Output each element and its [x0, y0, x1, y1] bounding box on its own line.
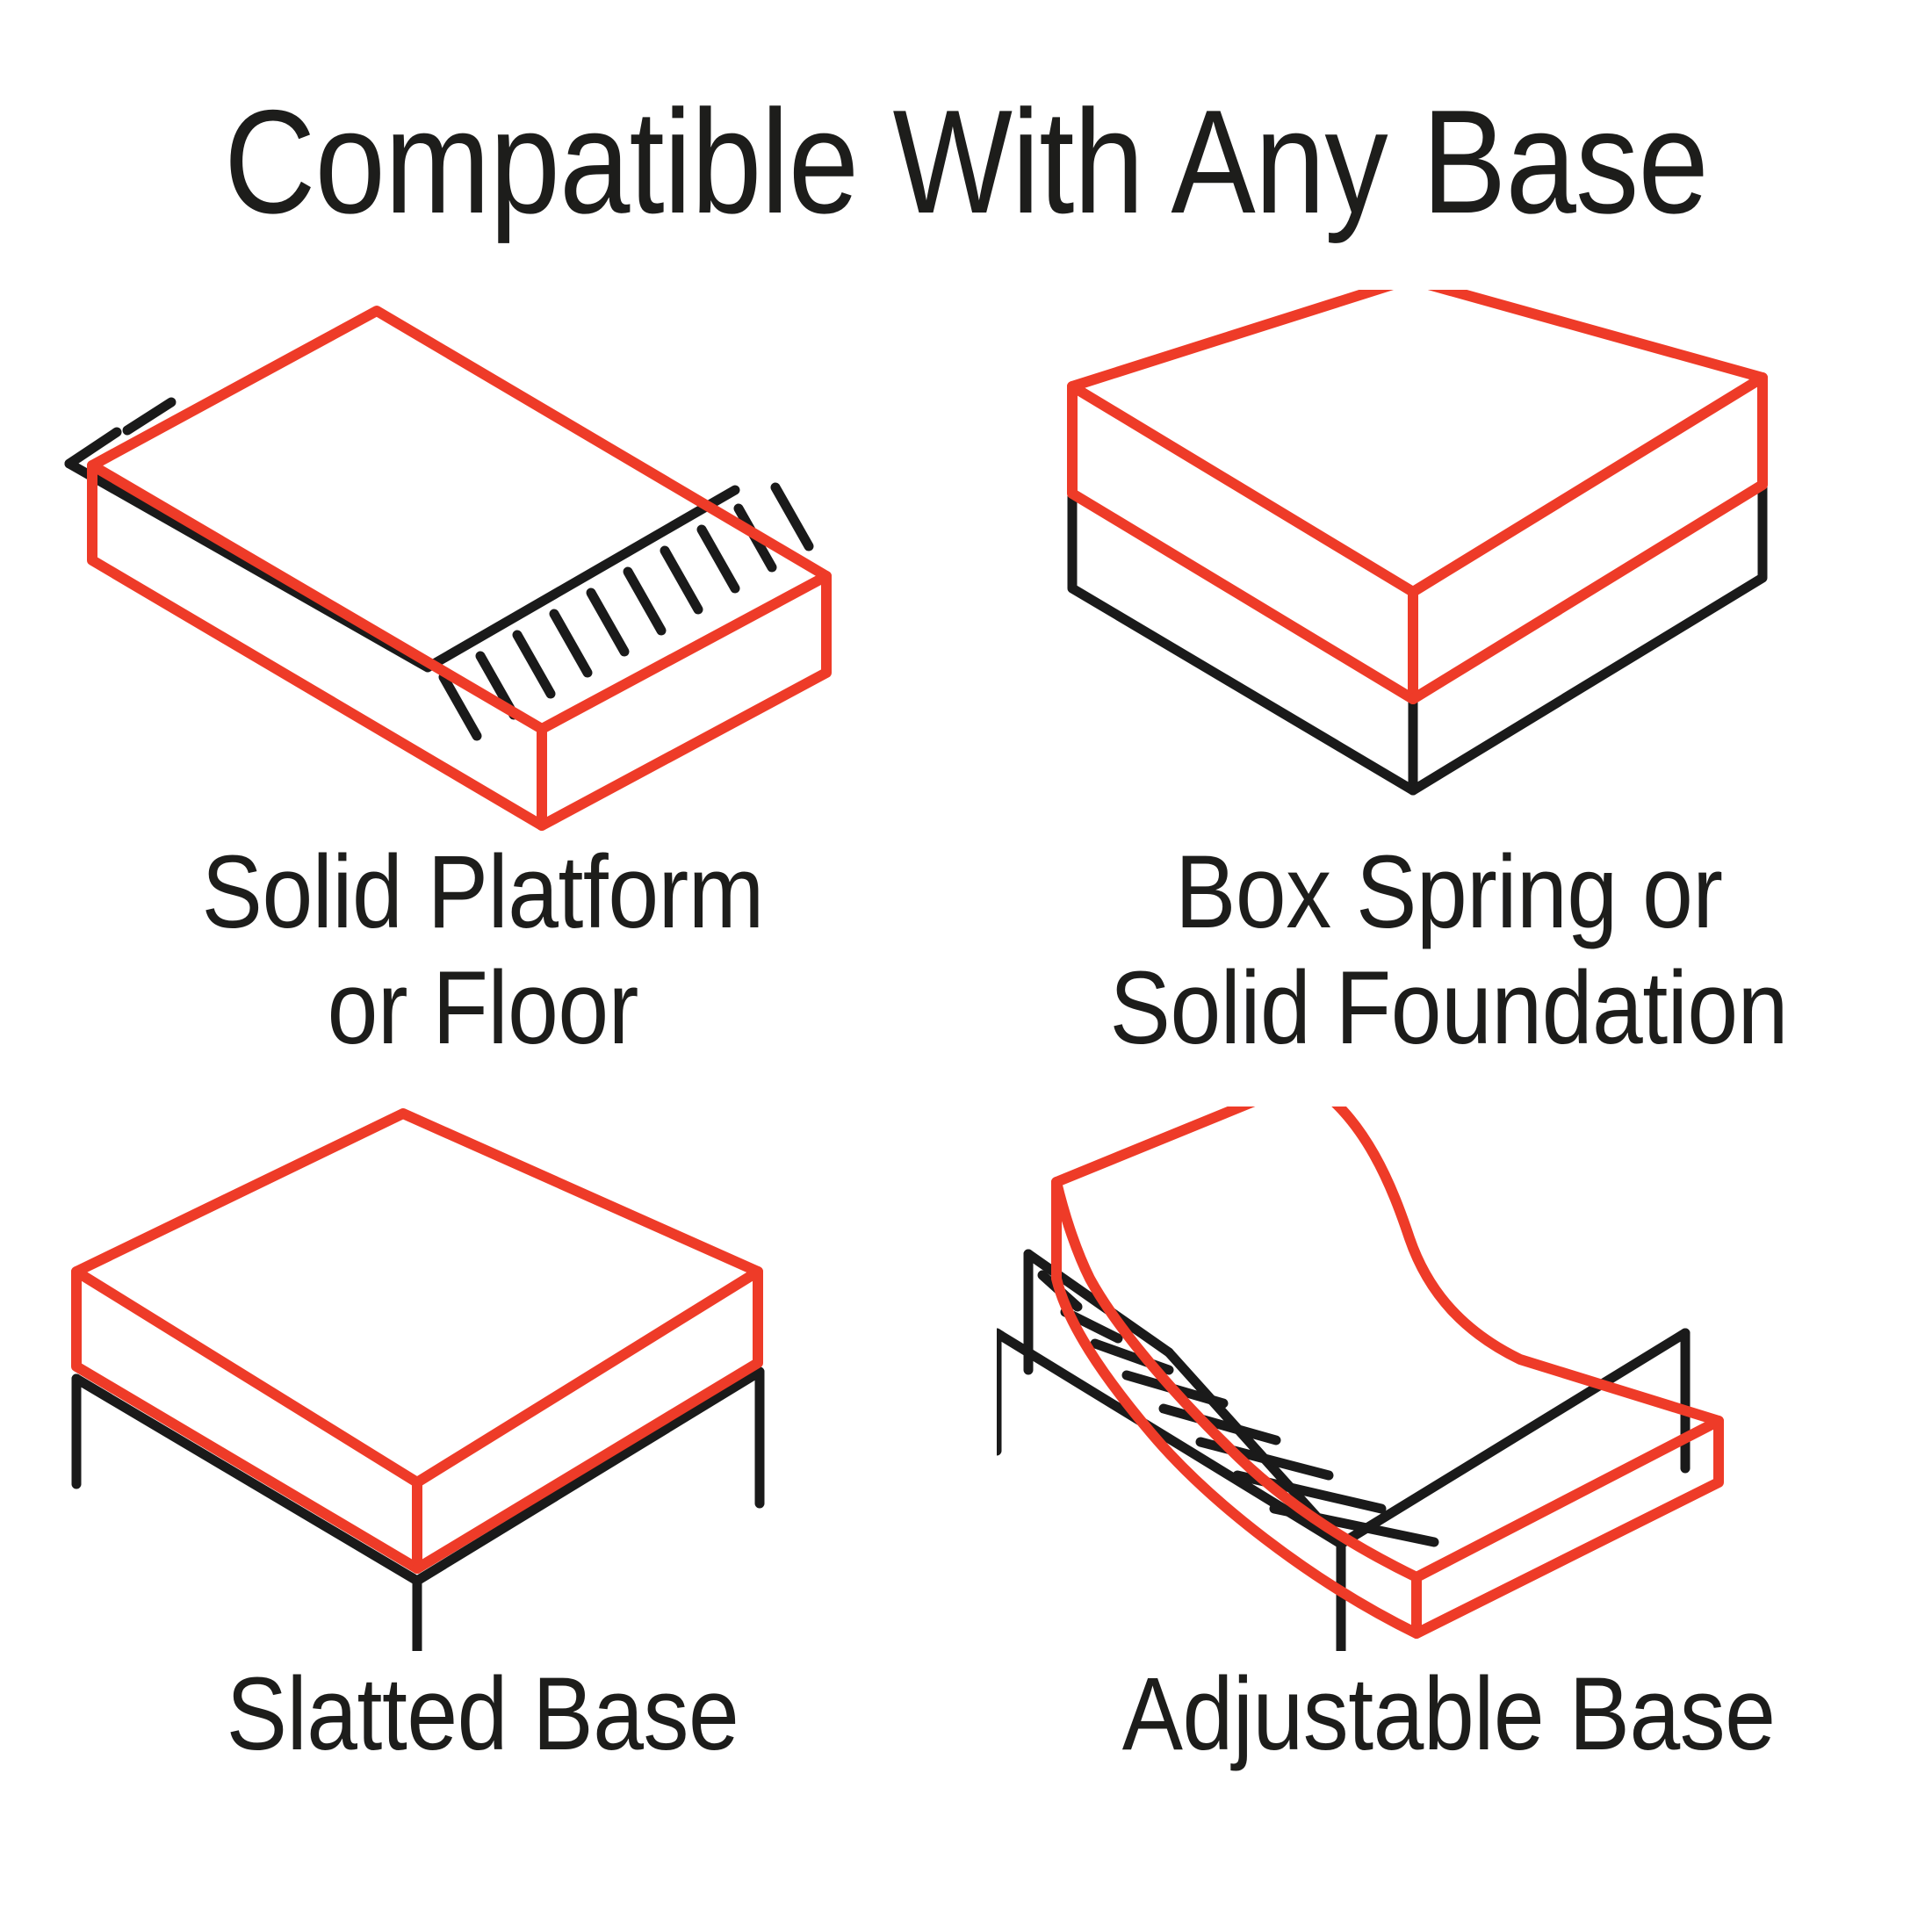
mattress-on-slatted-base-icon	[31, 1107, 935, 1651]
mattress-on-adjustable-base-icon	[997, 1107, 1901, 1651]
caption-line-1: Solid Platform	[202, 834, 764, 950]
figure-caption-solid-platform: Solid Platform or Floor	[202, 834, 764, 1066]
figure-card-slatted-base: Slatted Base	[0, 1107, 966, 1923]
figure-caption-slatted-base: Slatted Base	[227, 1656, 739, 1772]
base-type-grid: Solid Platform or Floor	[0, 290, 1932, 1923]
page-title: Compatible With Any Base	[135, 84, 1797, 239]
figure-caption-box-spring: Box Spring or Solid Foundation	[1110, 834, 1788, 1066]
caption-line-1: Adjustable Base	[1122, 1656, 1776, 1772]
mattress-on-solid-platform-icon	[31, 290, 935, 834]
mattress-outline	[92, 311, 826, 825]
figure-card-box-spring: Box Spring or Solid Foundation	[966, 290, 1932, 1107]
figure-card-solid-platform: Solid Platform or Floor	[0, 290, 966, 1107]
floor-line-group	[69, 402, 809, 736]
mattress-on-box-spring-icon	[997, 290, 1901, 834]
figure-caption-adjustable-base: Adjustable Base	[1122, 1656, 1776, 1772]
caption-line-2: or Floor	[202, 950, 764, 1066]
compatibility-infographic: Compatible With Any Base	[0, 0, 1932, 1932]
figure-card-adjustable-base: Adjustable Base	[966, 1107, 1932, 1923]
caption-line-2: Solid Foundation	[1110, 950, 1788, 1066]
caption-line-1: Box Spring or	[1110, 834, 1788, 950]
mattress-outline	[76, 1114, 758, 1568]
caption-line-1: Slatted Base	[227, 1656, 739, 1772]
